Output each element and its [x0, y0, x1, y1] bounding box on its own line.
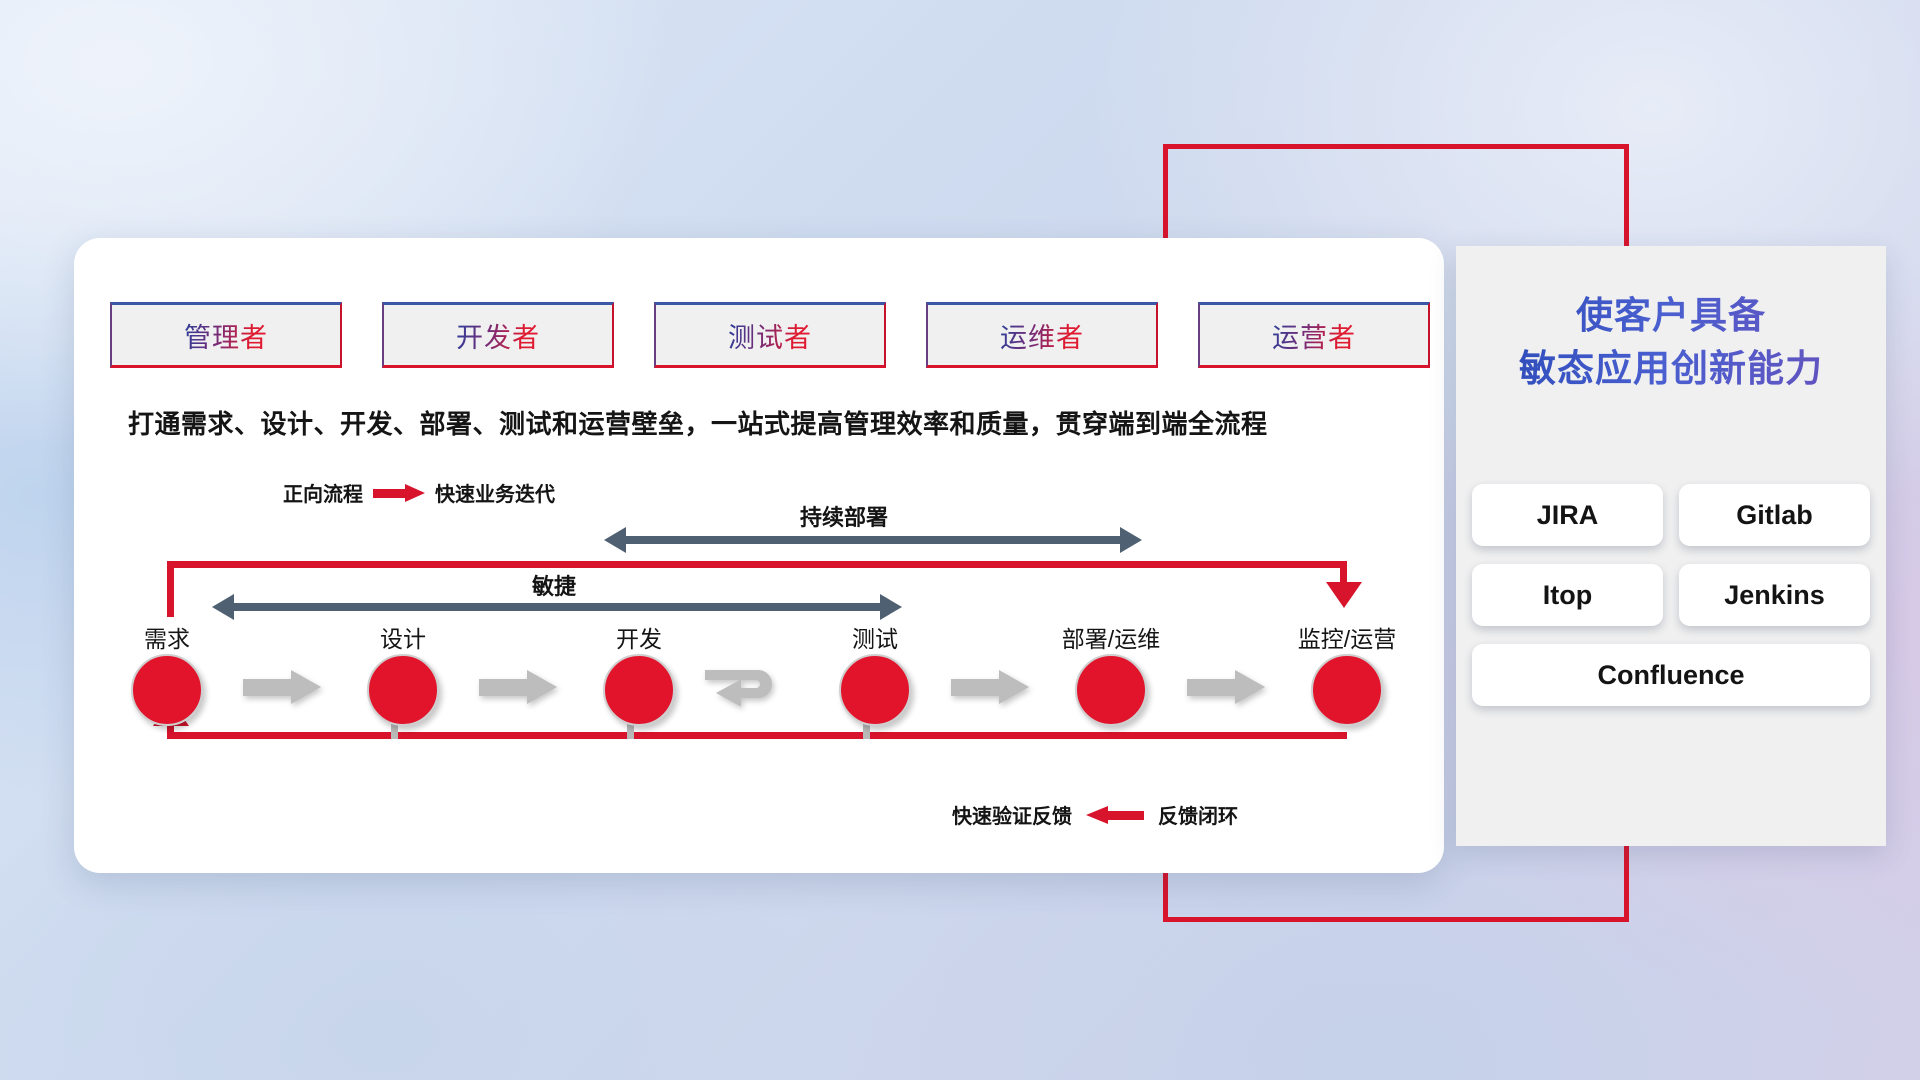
tool-chip-jenkins[interactable]: Jenkins	[1679, 564, 1870, 626]
span-arrow-continuous-deploy	[604, 527, 1142, 553]
legend-feedback-to: 快速验证反馈	[952, 800, 1072, 829]
arrow-right-grey-icon-3	[951, 670, 1029, 704]
arrow-right-grey-icon-1	[479, 670, 557, 704]
stage-label: 监控/运营	[1298, 620, 1396, 654]
right-panel: 使客户具备 敏态应用创新能力 JIRA Gitlab Itop Jenkins …	[1456, 246, 1886, 846]
tool-chip-itop[interactable]: Itop	[1472, 564, 1663, 626]
legend-feedback-from: 反馈闭环	[1158, 800, 1238, 829]
legend-forward-from: 正向流程	[283, 478, 363, 507]
subtitle-text: 打通需求、设计、开发、部署、测试和运营壁垒，一站式提高管理效率和质量，贯穿端到端…	[128, 404, 1428, 441]
role-box-list: 管理者 开发者 测试者 运维者 运营者	[110, 302, 1430, 368]
arrow-right-red-icon	[373, 484, 425, 502]
role-box-2[interactable]: 测试者	[654, 302, 886, 368]
pipeline-loop-right-arrowhead	[1326, 580, 1362, 608]
stage-dot	[367, 654, 439, 726]
right-panel-title: 使客户具备 敏态应用创新能力	[1456, 290, 1886, 395]
stage-label: 需求	[144, 620, 190, 654]
pipeline-loop-bottom	[167, 732, 1347, 739]
role-label: 运维者	[1000, 316, 1084, 355]
stage-label: 开发	[616, 620, 662, 654]
legend-forward-flow: 正向流程 快速业务迭代	[283, 478, 555, 507]
right-panel-title-line1: 使客户具备	[1456, 290, 1886, 343]
stage-dot	[1075, 654, 1147, 726]
role-label: 运营者	[1272, 316, 1356, 355]
role-label: 开发者	[456, 316, 540, 355]
role-box-4[interactable]: 运营者	[1198, 302, 1430, 368]
tool-chip-confluence[interactable]: Confluence	[1472, 644, 1870, 706]
stage-label: 测试	[852, 620, 898, 654]
stage-dot	[603, 654, 675, 726]
role-box-0[interactable]: 管理者	[110, 302, 342, 368]
tool-chip-jira[interactable]: JIRA	[1472, 484, 1663, 546]
stage-label: 部署/运维	[1062, 620, 1160, 654]
arrow-right-grey-icon-0	[243, 670, 321, 704]
role-label: 管理者	[184, 316, 268, 355]
pipeline-loop-left-up	[167, 561, 174, 617]
stage-dot	[1311, 654, 1383, 726]
role-label: 测试者	[728, 316, 812, 355]
right-panel-title-line2: 敏态应用创新能力	[1456, 343, 1886, 396]
span-arrow-agile	[212, 594, 902, 620]
legend-forward-to: 快速业务迭代	[435, 478, 555, 507]
pipeline-loop-top	[167, 561, 1347, 568]
role-box-3[interactable]: 运维者	[926, 302, 1158, 368]
arrow-left-red-icon	[1086, 806, 1144, 824]
stage-label: 设计	[380, 620, 426, 654]
outer-frame-bottom	[1163, 917, 1629, 922]
stage-dot	[839, 654, 911, 726]
tool-chip-gitlab[interactable]: Gitlab	[1679, 484, 1870, 546]
arrow-right-grey-icon-4	[1187, 670, 1265, 704]
loop-cycle-grey-icon	[700, 657, 792, 719]
outer-frame-top	[1163, 144, 1629, 149]
legend-feedback-loop: 快速验证反馈 反馈闭环	[952, 800, 1238, 829]
stage-dot	[131, 654, 203, 726]
tool-chip-list: JIRA Gitlab Itop Jenkins Confluence	[1472, 484, 1870, 706]
role-box-1[interactable]: 开发者	[382, 302, 614, 368]
